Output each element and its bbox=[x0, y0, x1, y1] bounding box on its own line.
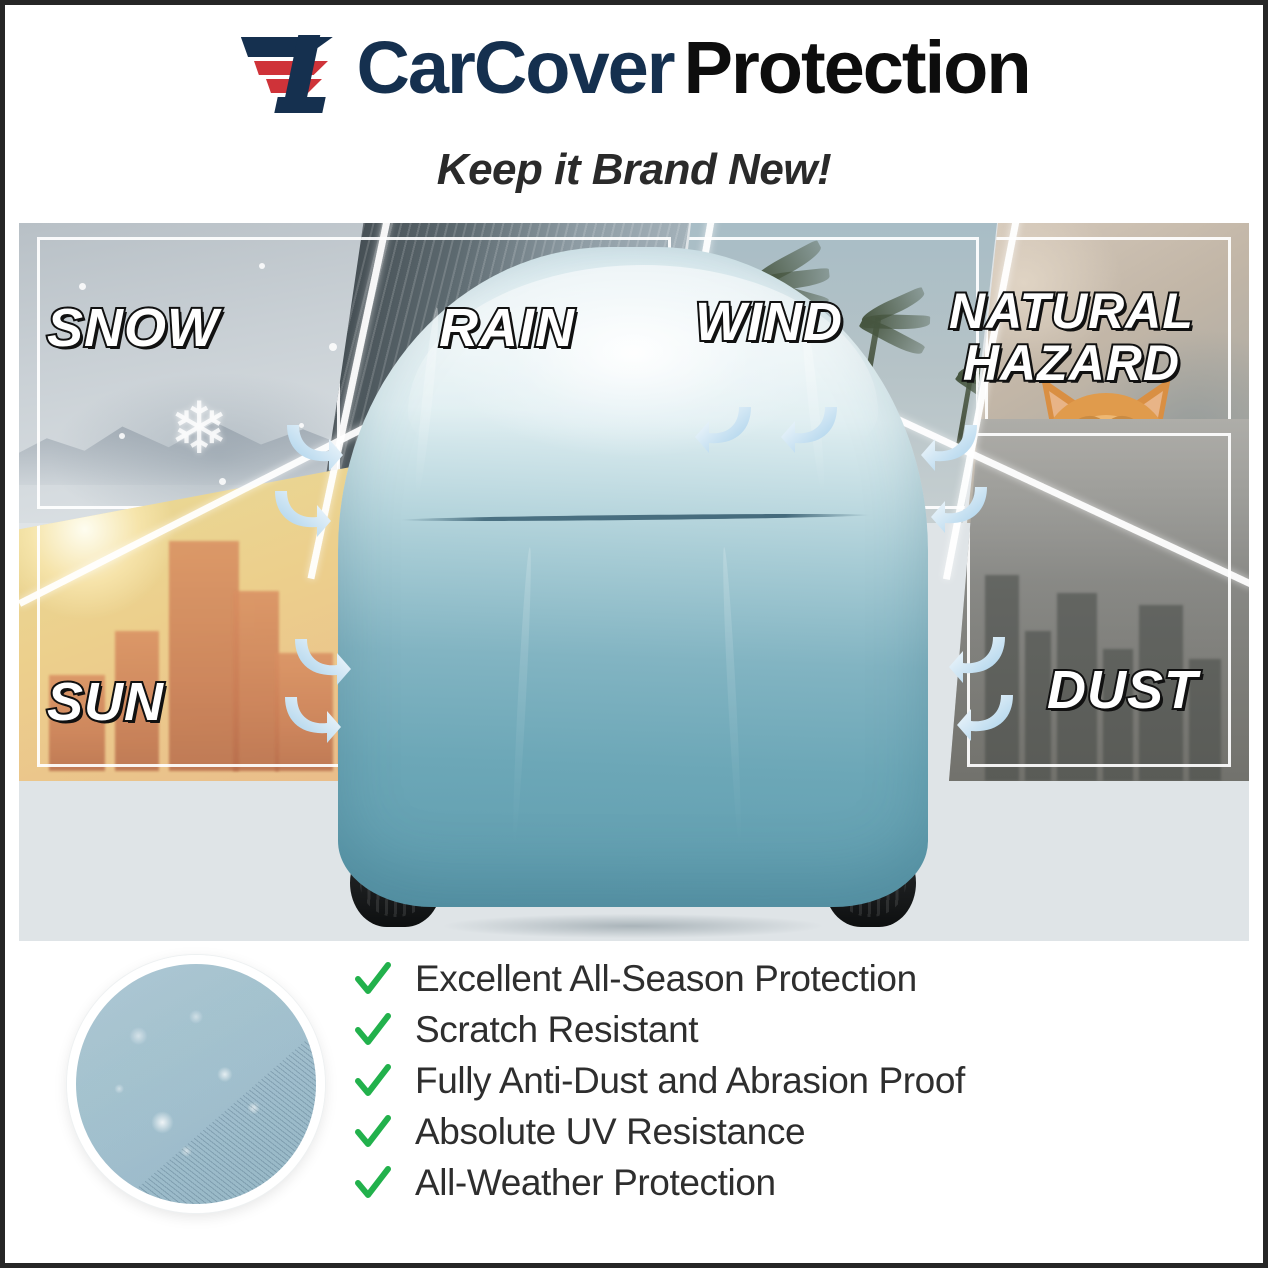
panel-label-sun: SUN bbox=[47, 675, 164, 729]
panel-label-rain: RAIN bbox=[439, 301, 575, 355]
snow-particle bbox=[219, 478, 226, 485]
header: CarCover Protection bbox=[5, 31, 1263, 105]
panel-label-snow: SNOW bbox=[47, 301, 219, 355]
water-beading-fabric-swatch bbox=[67, 955, 325, 1213]
check-icon bbox=[353, 1010, 393, 1050]
deflection-arrow-icon bbox=[781, 401, 847, 457]
city-building bbox=[233, 591, 279, 771]
feature-label: Fully Anti-Dust and Abrasion Proof bbox=[415, 1060, 965, 1102]
check-icon bbox=[353, 1112, 393, 1152]
feature-list: Excellent All-Season Protection Scratch … bbox=[353, 953, 1173, 1208]
logo-letter-i-foot bbox=[275, 97, 326, 113]
car-wheel-right bbox=[824, 835, 916, 927]
deflection-arrow-icon bbox=[921, 419, 987, 475]
deflection-arrow-icon bbox=[275, 691, 341, 747]
deflection-arrow-icon bbox=[277, 419, 343, 475]
deflection-arrow-icon bbox=[695, 401, 761, 457]
feature-label: Scratch Resistant bbox=[415, 1009, 698, 1051]
list-item: All-Weather Protection bbox=[353, 1157, 1173, 1208]
list-item: Scratch Resistant bbox=[353, 1004, 1173, 1055]
feature-label: All-Weather Protection bbox=[415, 1162, 776, 1204]
deflection-arrow-icon bbox=[931, 481, 997, 537]
snow-particle bbox=[259, 263, 265, 269]
brand-name: CarCover bbox=[356, 31, 673, 105]
list-item: Excellent All-Season Protection bbox=[353, 953, 1173, 1004]
snow-particle bbox=[329, 343, 337, 351]
page-title: Protection bbox=[684, 31, 1030, 105]
feature-label: Absolute UV Resistance bbox=[415, 1111, 805, 1153]
fabric-weave-texture bbox=[76, 964, 316, 1204]
check-icon bbox=[353, 959, 393, 999]
city-building bbox=[339, 687, 403, 771]
snow-particle bbox=[119, 433, 125, 439]
snowflake-icon: ❄ bbox=[169, 393, 229, 465]
panel-label-natural-hazard: NATURAL HAZARD bbox=[949, 285, 1194, 389]
panel-wind bbox=[657, 223, 997, 523]
panel-label-wind: WIND bbox=[695, 295, 843, 349]
list-item: Fully Anti-Dust and Abrasion Proof bbox=[353, 1055, 1173, 1106]
check-icon bbox=[353, 1163, 393, 1203]
protection-collage: ❄ bbox=[19, 223, 1249, 941]
deflection-arrow-icon bbox=[949, 631, 1015, 687]
icarcover-wing-logo-icon bbox=[238, 31, 346, 105]
deflection-arrow-icon bbox=[285, 633, 351, 689]
city-building bbox=[169, 541, 239, 771]
infographic-page: CarCover Protection Keep it Brand New! ❄ bbox=[0, 0, 1268, 1268]
car-cover-crease bbox=[510, 547, 534, 847]
deflection-arrow-icon bbox=[957, 689, 1023, 745]
car-shadow bbox=[368, 909, 898, 941]
panel-label-dust: DUST bbox=[1047, 663, 1198, 717]
feature-label: Excellent All-Season Protection bbox=[415, 958, 917, 1000]
snow-particle bbox=[79, 283, 86, 290]
list-item: Absolute UV Resistance bbox=[353, 1106, 1173, 1157]
car-wheel-left bbox=[350, 835, 442, 927]
car-cover-crease bbox=[720, 547, 744, 847]
check-icon bbox=[353, 1061, 393, 1101]
tagline: Keep it Brand New! bbox=[5, 145, 1263, 195]
deflection-arrow-icon bbox=[265, 485, 331, 541]
